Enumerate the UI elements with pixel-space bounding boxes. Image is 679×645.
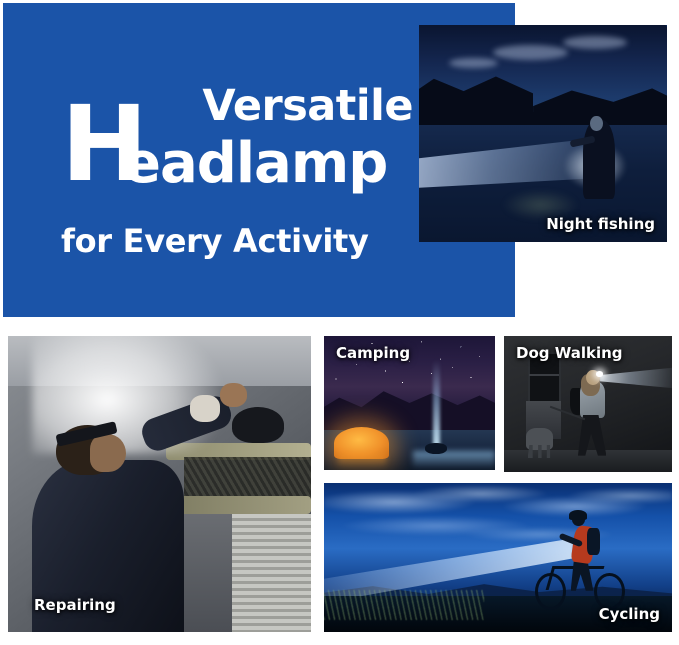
panel-cycling: Cycling [324, 483, 672, 632]
window-blinds [229, 514, 311, 632]
cyclist-group [533, 504, 651, 614]
grass-tufts [324, 590, 484, 620]
headline-block: Versatile H eadlamp for Every Activity [61, 85, 421, 260]
worker-face [90, 434, 126, 472]
panel-repairing: Repairing [8, 336, 311, 632]
angler-head [590, 116, 602, 131]
ceiling-fan-blade [166, 496, 311, 514]
headline-subtitle: for Every Activity [61, 222, 421, 260]
headline-line-headlamp: H eadlamp [61, 130, 421, 206]
panel-night-fishing: Night fishing [419, 25, 667, 242]
caption-night-fishing: Night fishing [546, 215, 655, 233]
panel-camping: Camping [324, 336, 495, 470]
panel-dog-walking: Dog Walking [504, 336, 672, 472]
angler-figure [583, 120, 615, 198]
caption-repairing: Repairing [34, 596, 116, 614]
caption-camping: Camping [336, 344, 410, 362]
scene-night-fishing [419, 25, 667, 242]
caption-cycling: Cycling [599, 605, 660, 623]
door-detail [529, 374, 559, 376]
cloud-shape [493, 45, 567, 60]
caption-dog-walking: Dog Walking [516, 344, 623, 362]
cyclist-backpack [587, 528, 600, 554]
cloud-shape [563, 36, 627, 49]
camper-figure [425, 443, 447, 454]
worker-hand [220, 383, 247, 407]
fan-grille [184, 457, 311, 498]
cyclist-helmet [569, 510, 587, 520]
infographic-root: Versatile H eadlamp for Every Activity [0, 0, 679, 645]
tent-reflection [338, 454, 386, 467]
headline-headlamp-rest: eadlamp [123, 136, 387, 192]
beam-reflection [413, 451, 495, 468]
vertical-light-beam [433, 360, 440, 448]
fan-motor-hub [232, 407, 284, 443]
work-glove [190, 395, 220, 422]
headlamp-light [596, 371, 603, 376]
scene-repairing [8, 336, 311, 632]
dog-legs [528, 445, 552, 459]
